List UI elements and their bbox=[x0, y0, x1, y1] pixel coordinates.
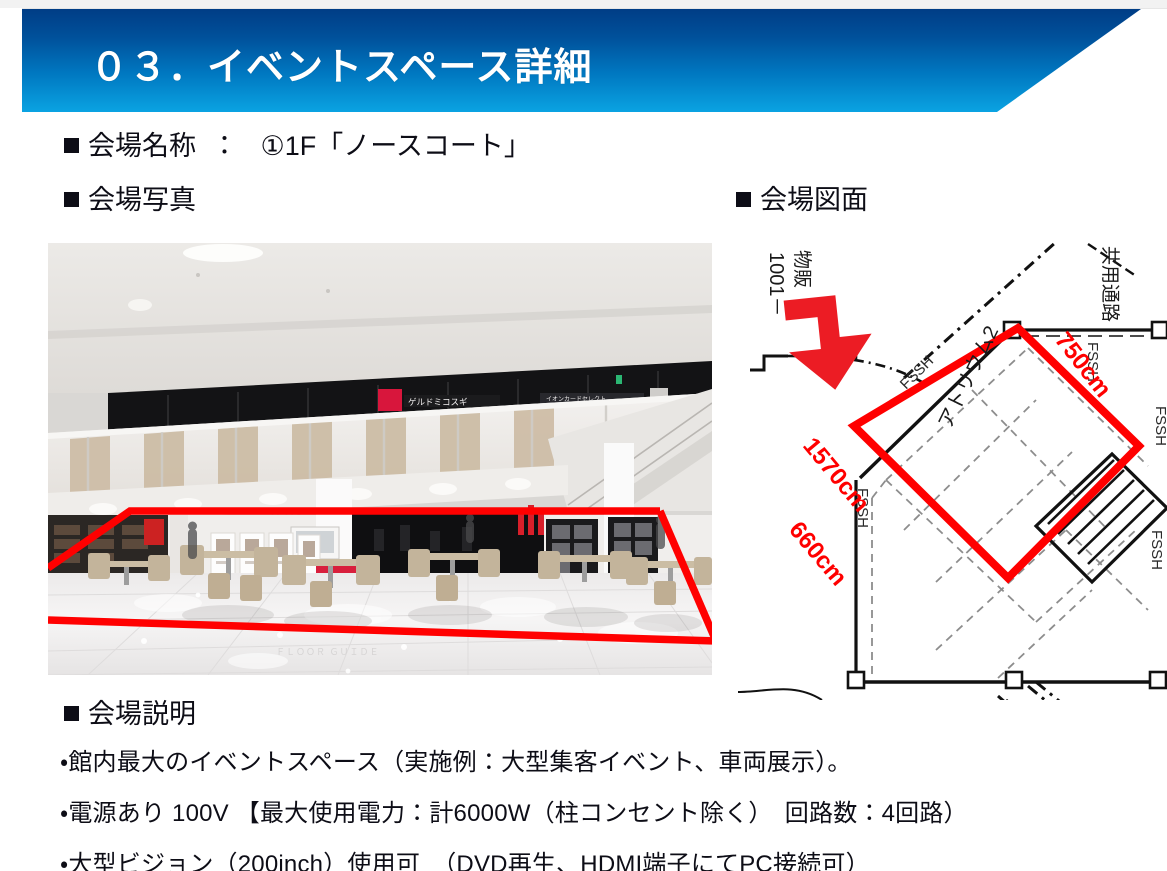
left-margin bbox=[0, 8, 22, 118]
bullet-square-icon bbox=[736, 192, 751, 207]
bullet-square-icon bbox=[64, 192, 79, 207]
description-bullet-1: ・館内最大のイベントスペース（実施例：大型集客イベント、車両展示）。 bbox=[60, 742, 1160, 777]
venue-name-separator: ： bbox=[211, 131, 238, 161]
photo-heading-label: 会場写真 bbox=[88, 185, 196, 215]
plan-heading-label: 会場図面 bbox=[760, 185, 868, 215]
plan-label-tenant-type: 物販 bbox=[791, 250, 813, 288]
bullet-square-icon bbox=[64, 138, 79, 153]
header-banner: ０３．イベントスペース詳細 bbox=[22, 9, 1167, 112]
plan-label-fsshh-4: FSSH bbox=[1152, 406, 1167, 446]
venue-photo: ゲルドミコスギ イオンカードセレクト 会員募集中 bbox=[48, 243, 712, 675]
bullet-square-icon bbox=[64, 706, 79, 721]
venue-name-line: 会場名称 ： ①1F「ノースコート」 bbox=[64, 124, 531, 163]
description-list: ・館内最大のイベントスペース（実施例：大型集客イベント、車両展示）。 ・電源あり… bbox=[60, 742, 1160, 871]
slide-root: ０３．イベントスペース詳細 会場名称 ： ①1F「ノースコート」 会場写真 会場… bbox=[0, 0, 1167, 871]
description-heading-label: 会場説明 bbox=[88, 699, 196, 729]
description-bullet-2: ・電源あり 100V 【最大使用電力：計6000W（柱コンセント除く） 回路数：… bbox=[60, 793, 1160, 828]
photo-area-overlay-icon bbox=[48, 243, 712, 675]
top-edge-strip bbox=[0, 0, 1167, 9]
venue-name-label: 会場名称 bbox=[88, 131, 196, 161]
description-bullet-3: ・大型ビジョン（200inch）使用可 （DVD再生、HDMI端子にてPC接続可… bbox=[60, 844, 1160, 871]
photo-section-heading: 会場写真 bbox=[64, 178, 196, 217]
plan-label-tenant-number: 1001－ bbox=[765, 252, 787, 317]
floor-plan-drawing: 1001－ 物販 共用通路 アトリウム2 FSSH FSSH FSSH FSSH… bbox=[736, 230, 1167, 700]
description-section-heading: 会場説明 bbox=[64, 692, 196, 731]
plan-section-heading: 会場図面 bbox=[736, 178, 868, 217]
venue-name-value: ①1F「ノースコート」 bbox=[261, 131, 531, 161]
plan-label-fsshh-5: FSSH bbox=[1148, 530, 1165, 570]
venue-floor-plan: 1001－ 物販 共用通路 アトリウム2 FSSH FSSH FSSH FSSH… bbox=[736, 230, 1167, 700]
page-title: ０３．イベントスペース詳細 bbox=[90, 36, 592, 91]
plan-label-corridor: 共用通路 bbox=[1099, 246, 1121, 322]
